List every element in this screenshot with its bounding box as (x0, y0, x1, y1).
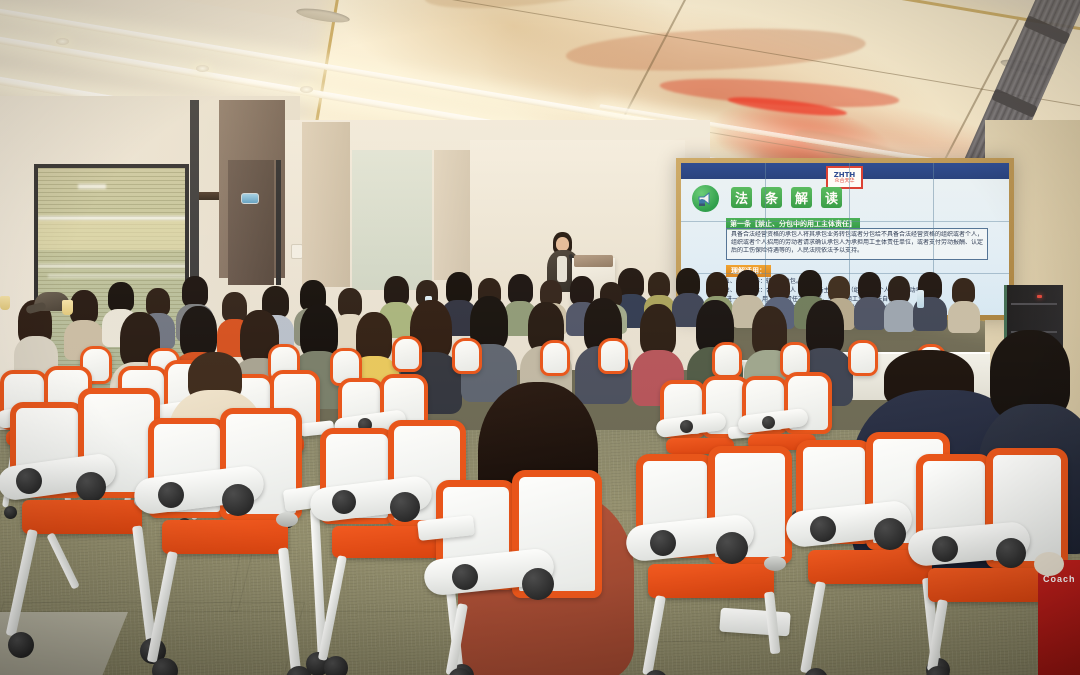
water-bottle-2 (917, 290, 924, 308)
bag-tissue (1034, 552, 1064, 576)
slide-title-char-3: 读 (821, 187, 842, 208)
paper-cup-2 (0, 296, 10, 310)
door-sign-1 (241, 193, 259, 204)
presenter-blouse (557, 256, 567, 282)
door-1 (228, 160, 274, 285)
ceiling-spot-3 (300, 86, 313, 93)
ceiling-spot-2 (196, 65, 209, 72)
slide-body-line-2: 后的工伤保险待遇等的，人民法院依法予以支持。 (731, 247, 983, 255)
wall-reveal (190, 100, 199, 285)
seminar-photo: ZHTH 众合天华 法 条 解 读 第一条【禁止、分包中的用工主体责任】 具备合… (0, 0, 1080, 675)
shopping-bag: Coach (1038, 560, 1080, 675)
slide-body-line-0: 具备合法经营资格的承包人将其承包业务转包或者分包给不具备合法经营资格的组织或者个… (731, 231, 983, 239)
presenter-head (556, 237, 569, 251)
slide-body-line-1: 组织或者个人招用的劳动者请求确认承包人为承担用工主体责任单位，或者支付劳动报酬、… (731, 239, 983, 247)
corner-logo: ZHTH 众合天华 (826, 166, 863, 189)
rack-led-red (1037, 295, 1042, 298)
door-3 (434, 150, 470, 280)
slide-title-char-2: 解 (791, 187, 812, 208)
door-2 (302, 122, 350, 287)
megaphone-speaker-icon (692, 185, 719, 212)
slide-title-char-0: 法 (731, 187, 752, 208)
paper-cup (62, 300, 73, 315)
wall-plaque (196, 192, 220, 200)
lectern-top (574, 255, 613, 267)
door-gap-1 (276, 160, 281, 285)
ceiling-spot-1 (56, 38, 69, 45)
corner-logo-bottom: 众合天华 (834, 179, 854, 184)
back-glass (352, 150, 432, 290)
